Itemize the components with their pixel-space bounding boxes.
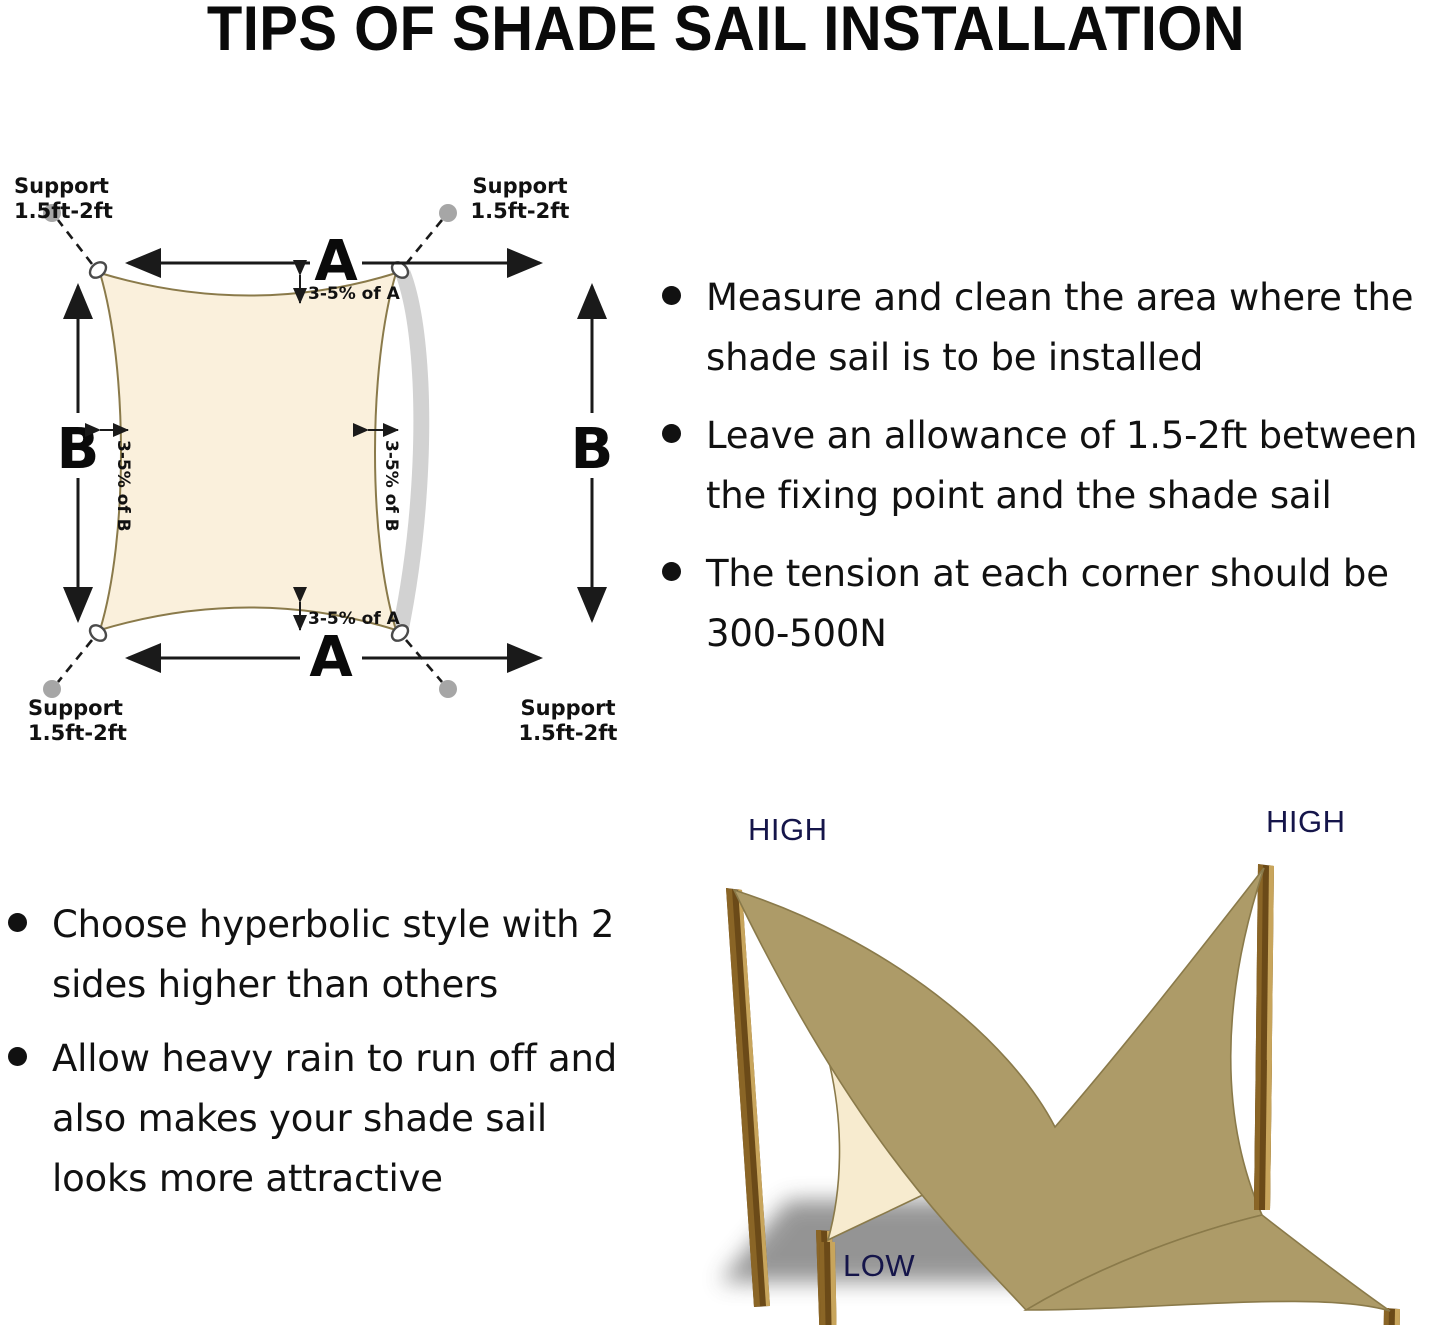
tip-item: Measure and clean the area where the sha… bbox=[648, 268, 1448, 388]
tolerance-label-bottom: 3-5% of A bbox=[308, 609, 401, 629]
support-anchor-dot bbox=[439, 204, 457, 222]
rectangular-sail-diagram: Support 1.5ft-2ft Support 1.5ft-2ft Supp… bbox=[0, 168, 650, 728]
support-callout-line2: 1.5ft-2ft bbox=[519, 721, 618, 745]
label-high-right: HIGH bbox=[1266, 804, 1346, 839]
support-anchor-dot bbox=[439, 680, 457, 698]
support-callout-bottom-left: Support 1.5ft-2ft bbox=[28, 696, 127, 745]
support-callout-line1: Support bbox=[473, 174, 568, 198]
dimension-b-right: B bbox=[571, 286, 614, 620]
dimension-b-left: B bbox=[57, 286, 100, 620]
dimension-label-b-right: B bbox=[571, 417, 614, 482]
tip-text: Allow heavy rain to run off and also mak… bbox=[52, 1037, 617, 1200]
bullet-dot-icon bbox=[662, 424, 681, 443]
hyperbolic-sail-diagram: HIGH HIGH LOW LOW bbox=[660, 790, 1452, 1325]
support-callout-top-left: Support 1.5ft-2ft bbox=[14, 174, 113, 223]
page-title: TIPS OF SHADE SAIL INSTALLATION bbox=[58, 0, 1394, 62]
support-callout-line1: Support bbox=[28, 696, 123, 720]
tip-item: Allow heavy rain to run off and also mak… bbox=[0, 1029, 625, 1209]
tip-item: The tension at each corner should be 300… bbox=[648, 544, 1448, 664]
tolerance-left: 3-5% of B bbox=[100, 430, 133, 532]
support-callout-line2: 1.5ft-2ft bbox=[471, 199, 570, 223]
bullet-dot-icon bbox=[8, 1047, 27, 1066]
tolerance-label-top: 3-5% of A bbox=[308, 284, 401, 304]
tip-text: Measure and clean the area where the sha… bbox=[706, 276, 1413, 379]
support-line-bottom-left bbox=[43, 640, 92, 698]
dimension-label-a-bottom: A bbox=[309, 625, 353, 690]
tip-text: Choose hyperbolic style with 2 sides hig… bbox=[52, 903, 614, 1006]
bullet-dot-icon bbox=[662, 286, 681, 305]
tip-item: Leave an allowance of 1.5-2ft between th… bbox=[648, 406, 1448, 526]
support-callout-line2: 1.5ft-2ft bbox=[14, 199, 113, 223]
label-high-left: HIGH bbox=[748, 812, 828, 847]
label-low-left: LOW bbox=[843, 1248, 915, 1283]
pole-high-left bbox=[726, 888, 770, 1307]
tolerance-label-left: 3-5% of B bbox=[113, 440, 133, 532]
tip-text: The tension at each corner should be 300… bbox=[706, 552, 1389, 655]
tip-text: Leave an allowance of 1.5-2ft between th… bbox=[706, 414, 1417, 517]
dimension-label-b-left: B bbox=[57, 417, 100, 482]
pole-high-right-front-segment bbox=[1254, 1060, 1272, 1210]
tolerance-label-right: 3-5% of B bbox=[381, 440, 401, 532]
support-line-top-right bbox=[406, 204, 457, 264]
hyperbolic-tips-list: Choose hyperbolic style with 2 sides hig… bbox=[0, 895, 625, 1223]
bullet-dot-icon bbox=[662, 562, 681, 581]
support-callout-line1: Support bbox=[14, 174, 109, 198]
support-callout-top-right: Support 1.5ft-2ft bbox=[471, 174, 570, 223]
support-callout-line2: 1.5ft-2ft bbox=[28, 721, 127, 745]
support-line-bottom-right bbox=[406, 640, 457, 698]
installation-tips-list: Measure and clean the area where the sha… bbox=[648, 268, 1448, 682]
support-callout-bottom-right: Support 1.5ft-2ft bbox=[519, 696, 618, 745]
dimension-a-bottom: A bbox=[128, 625, 540, 690]
bullet-dot-icon bbox=[8, 913, 27, 932]
support-callout-line1: Support bbox=[521, 696, 616, 720]
shade-sail-body bbox=[100, 273, 396, 630]
pole-low-left-front-segment bbox=[819, 1242, 838, 1325]
tip-item: Choose hyperbolic style with 2 sides hig… bbox=[0, 895, 625, 1015]
